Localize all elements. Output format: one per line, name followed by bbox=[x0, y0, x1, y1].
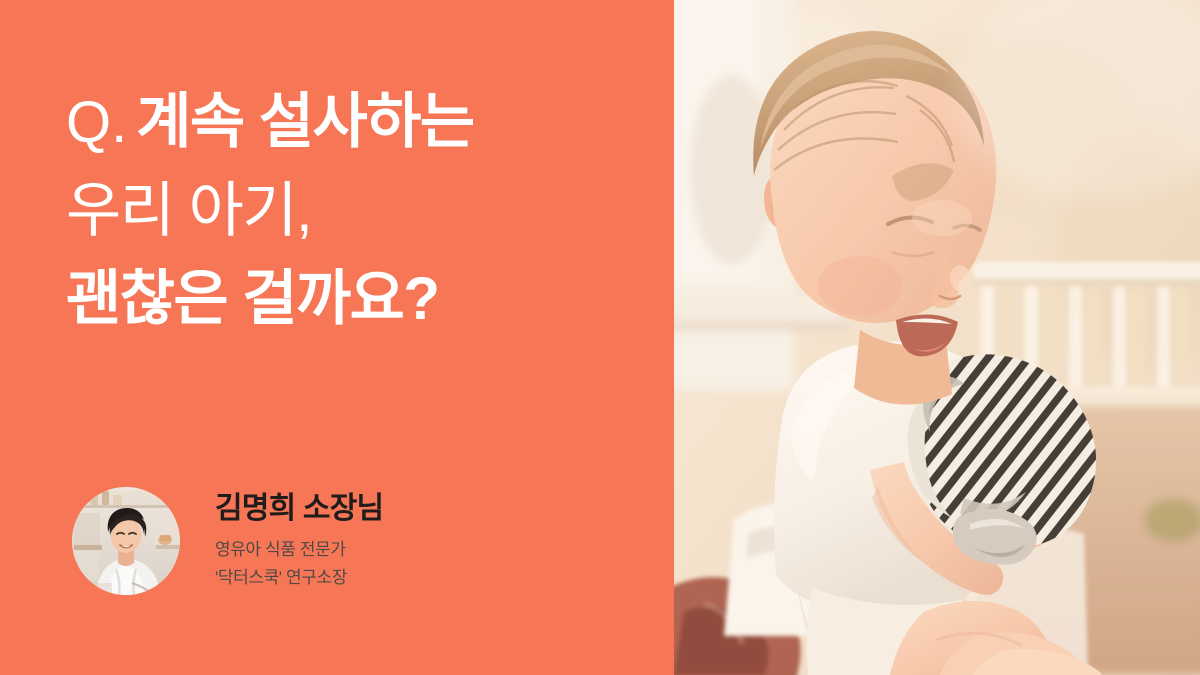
expert-name: 김명희 소장님 bbox=[215, 489, 383, 529]
left-content-panel: Q.계속 설사하는 우리 아기, 괜찮은 걸까요? bbox=[0, 0, 674, 675]
question-prefix: Q. bbox=[66, 90, 136, 155]
avatar-image bbox=[72, 487, 180, 595]
profile-block: 김명희 소장님 영유아 식품 전문가 '닥터스쿡' 연구소장 bbox=[72, 487, 383, 595]
headline-block: Q.계속 설사하는 우리 아기, 괜찮은 걸까요? bbox=[66, 78, 666, 343]
hero-photo bbox=[674, 0, 1200, 675]
avatar bbox=[72, 487, 180, 595]
expert-subtitle-2: '닥터스쿡' 연구소장 bbox=[215, 564, 383, 592]
headline-line-1-text: 계속 설사하는 bbox=[136, 88, 473, 155]
profile-text-block: 김명희 소장님 영유아 식품 전문가 '닥터스쿡' 연구소장 bbox=[215, 487, 383, 592]
headline-line-1: Q.계속 설사하는 bbox=[66, 78, 666, 167]
expert-subtitle-1: 영유아 식품 전문가 bbox=[215, 536, 383, 564]
promo-card: Q.계속 설사하는 우리 아기, 괜찮은 걸까요? bbox=[0, 0, 1200, 675]
hero-photo-image bbox=[674, 0, 1200, 675]
headline-line-2: 우리 아기, bbox=[66, 167, 666, 255]
headline-line-3: 괜찮은 걸까요? bbox=[66, 255, 666, 343]
